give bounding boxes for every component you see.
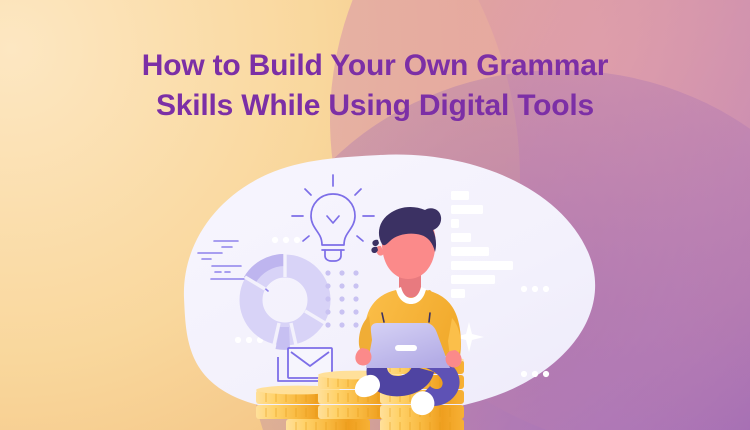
laptop-trackpad [395,345,417,351]
dot-triple-icon-2 [235,337,263,343]
bar-2 [451,205,483,214]
title-line-2: Skills While Using Digital Tools [40,86,710,126]
bar-8 [451,289,465,298]
bar-4 [451,233,471,242]
coin-front-row [380,419,464,430]
bar-5 [451,247,489,256]
bar-6 [451,261,513,270]
banner-card: How to Build Your Own Grammar Skills Whi… [0,0,750,430]
bar-3 [451,219,459,228]
bar-1 [451,191,469,200]
bar-7 [451,275,495,284]
coin-stack-4 [286,419,370,430]
dot-triple-icon-5 [521,371,549,377]
title-line-1: How to Build Your Own Grammar [40,46,710,86]
page-title: How to Build Your Own Grammar Skills Whi… [0,46,750,125]
dot-triple-icon-4 [521,286,549,292]
dot-triple-icon-1 [272,237,300,243]
